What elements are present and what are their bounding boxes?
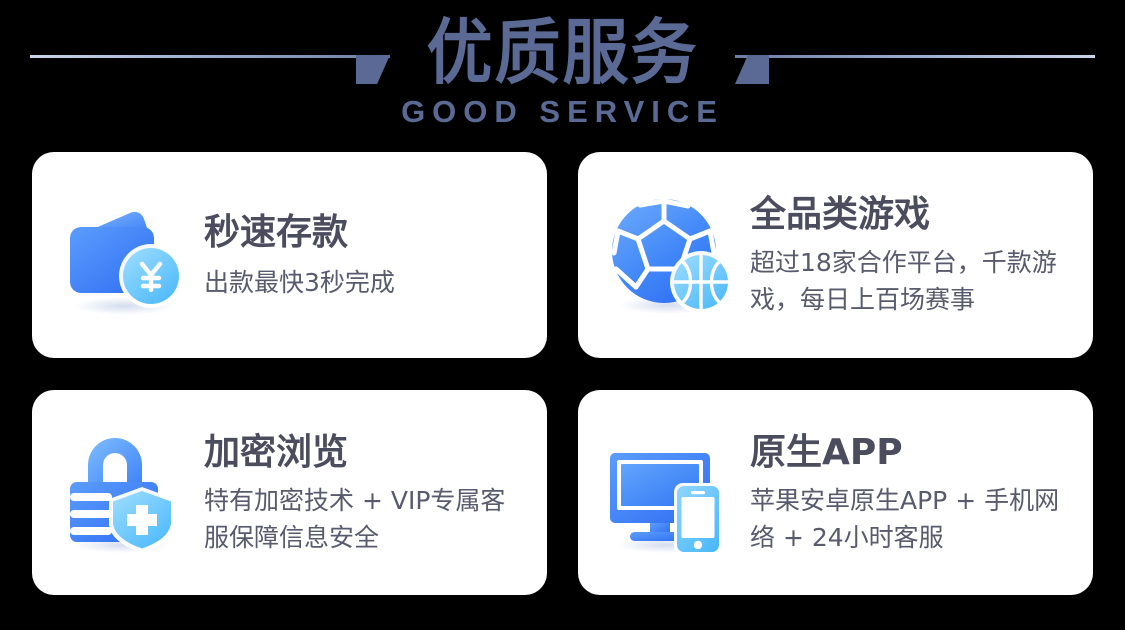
card-text-block: 加密浏览 特有加密技术 + VIP专属客服保障信息安全: [200, 430, 525, 556]
feature-card-native-app[interactable]: 原生APP 苹果安卓原生APP + 手机网络 + 24小时客服: [578, 390, 1093, 595]
page-title-en: GOOD SERVICE: [0, 94, 1125, 130]
card-title: 全品类游戏: [750, 192, 1071, 238]
card-subtitle: 超过18家合作平台，千款游戏，每日上百场赛事: [750, 244, 1071, 318]
feature-card-all-games[interactable]: 全品类游戏 超过18家合作平台，千款游戏，每日上百场赛事: [578, 152, 1093, 358]
card-subtitle: 苹果安卓原生APP + 手机网络 + 24小时客服: [750, 482, 1071, 556]
card-subtitle: 特有加密技术 + VIP专属客服保障信息安全: [204, 482, 525, 556]
card-title: 秒速存款: [204, 210, 525, 256]
card-subtitle: 出款最快3秒完成: [204, 264, 525, 301]
feature-card-encrypted-browsing[interactable]: 加密浏览 特有加密技术 + VIP专属客服保障信息安全: [32, 390, 547, 595]
card-text-block: 全品类游戏 超过18家合作平台，千款游戏，每日上百场赛事: [746, 192, 1071, 318]
card-title: 原生APP: [750, 430, 1071, 476]
page-title-cn: 优质服务: [427, 8, 699, 99]
card-text-block: 秒速存款 出款最快3秒完成: [200, 210, 525, 301]
header-text-block: 优质服务 GOOD SERVICE: [0, 8, 1125, 130]
card-text-block: 原生APP 苹果安卓原生APP + 手机网络 + 24小时客服: [746, 430, 1071, 556]
feature-card-instant-deposit[interactable]: 秒速存款 出款最快3秒完成: [32, 152, 547, 358]
page-header: 优质服务 GOOD SERVICE: [0, 0, 1125, 146]
card-title: 加密浏览: [204, 430, 525, 476]
wallet-yen-icon: [58, 189, 190, 321]
monitor-phone-icon: [604, 427, 736, 559]
soccer-basketball-icon: [604, 189, 736, 321]
lock-shield-icon: [58, 427, 190, 559]
feature-card-grid: 秒速存款 出款最快3秒完成: [32, 152, 1093, 595]
